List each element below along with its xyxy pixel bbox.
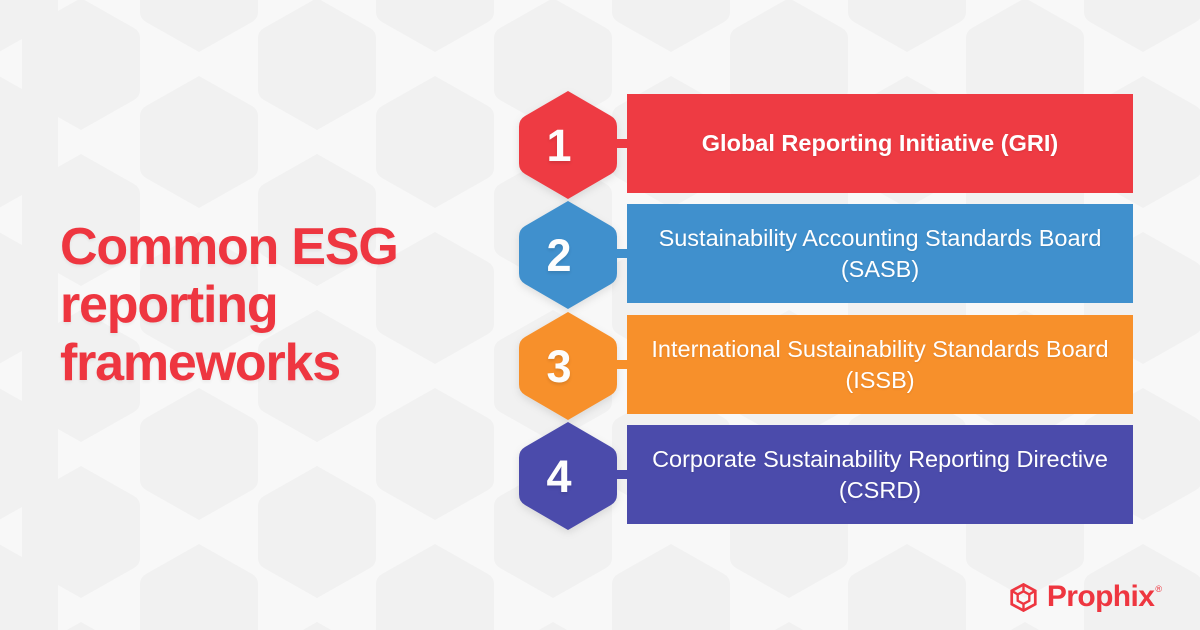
framework-label-2: Sustainability Accounting Standards Boar… [649,223,1111,285]
connector-line-1 [607,139,629,148]
framework-row[interactable]: 4 Corporate Sustainability Reporting Dir… [508,421,1148,531]
framework-row[interactable]: 3 International Sustainability Standards… [508,311,1148,421]
hexagon-number-4: 4 [508,421,608,531]
connector-line-3 [607,360,629,369]
connector-line-4 [607,470,629,479]
prophix-wordmark: Prophix [1047,582,1154,612]
hexagon-number-2: 2 [508,200,608,310]
infographic-canvas: Common ESG reporting frameworks 1 Global… [0,0,1200,630]
connector-line-2 [607,249,629,258]
framework-bar-2[interactable]: Sustainability Accounting Standards Boar… [627,204,1133,303]
registered-trademark-symbol: ® [1155,584,1162,595]
framework-label-4: Corporate Sustainability Reporting Direc… [649,444,1111,506]
framework-bar-1[interactable]: Global Reporting Initiative (GRI) [627,94,1133,193]
page-title: Common ESG reporting frameworks [60,218,480,392]
page-title-line-2: reporting [60,276,480,334]
page-title-line-1: Common ESG [60,218,480,276]
prophix-wordmark-wrap: Prophix ® [1047,582,1162,612]
framework-bar-4[interactable]: Corporate Sustainability Reporting Direc… [627,425,1133,524]
framework-label-3: International Sustainability Standards B… [649,334,1111,396]
framework-bar-3[interactable]: International Sustainability Standards B… [627,315,1133,414]
hexagon-number-1: 1 [508,90,608,200]
hexagon-number-3: 3 [508,311,608,421]
framework-label-1: Global Reporting Initiative (GRI) [702,128,1058,159]
framework-row[interactable]: 1 Global Reporting Initiative (GRI) [508,90,1148,200]
framework-row[interactable]: 2 Sustainability Accounting Standards Bo… [508,200,1148,310]
prophix-cube-icon [1009,583,1038,612]
prophix-logo: Prophix ® [1009,582,1162,612]
page-title-line-3: frameworks [60,334,480,392]
